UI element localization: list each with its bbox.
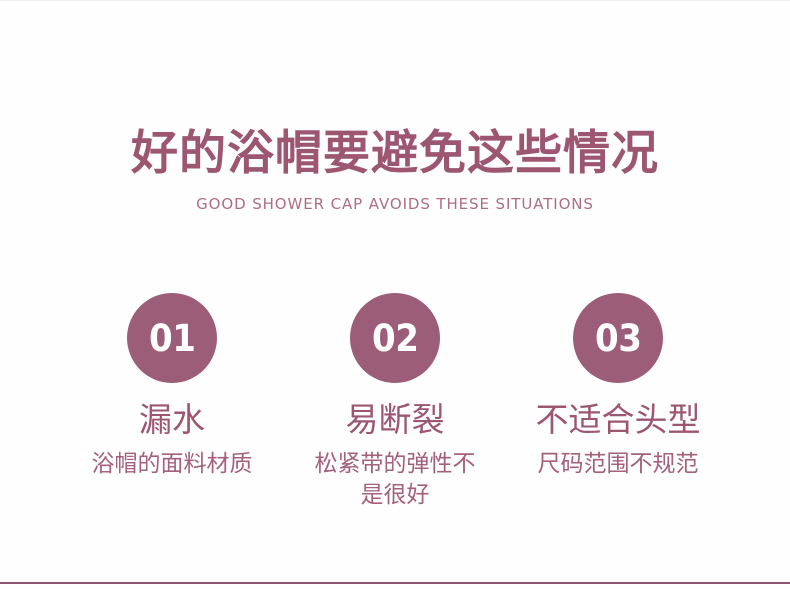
list-item: 01 漏水 浴帽的面料材质	[61, 293, 284, 480]
badge-number-label: 03	[595, 320, 641, 357]
panel-header: 好的浴帽要避免这些情况 GOOD SHOWER CAP AVOIDS THESE…	[0, 126, 790, 214]
item-description: 松紧带的弹性不是很好	[305, 449, 485, 511]
number-badge-01: 01	[127, 293, 217, 383]
item-heading: 不适合头型	[536, 400, 701, 440]
situations-list: 01 漏水 浴帽的面料材质 02 易断裂 松紧带的弹性不是很好 03 不适合头型…	[0, 293, 790, 511]
item-description: 尺码范围不规范	[538, 449, 699, 480]
top-divider	[0, 0, 790, 1]
badge-number-label: 02	[372, 320, 418, 357]
item-heading: 漏水	[139, 400, 205, 440]
item-description: 浴帽的面料材质	[92, 449, 253, 480]
list-item: 03 不适合头型 尺码范围不规范	[507, 293, 730, 480]
badge-number-label: 01	[149, 320, 195, 357]
page-title: 好的浴帽要避免这些情况	[0, 126, 790, 182]
bottom-divider	[0, 582, 790, 584]
page-subtitle: GOOD SHOWER CAP AVOIDS THESE SITUATIONS	[0, 194, 790, 214]
product-info-panel: 好的浴帽要避免这些情况 GOOD SHOWER CAP AVOIDS THESE…	[0, 0, 790, 589]
list-item: 02 易断裂 松紧带的弹性不是很好	[284, 293, 507, 511]
number-badge-03: 03	[573, 293, 663, 383]
item-heading: 易断裂	[346, 400, 445, 440]
number-badge-02: 02	[350, 293, 440, 383]
